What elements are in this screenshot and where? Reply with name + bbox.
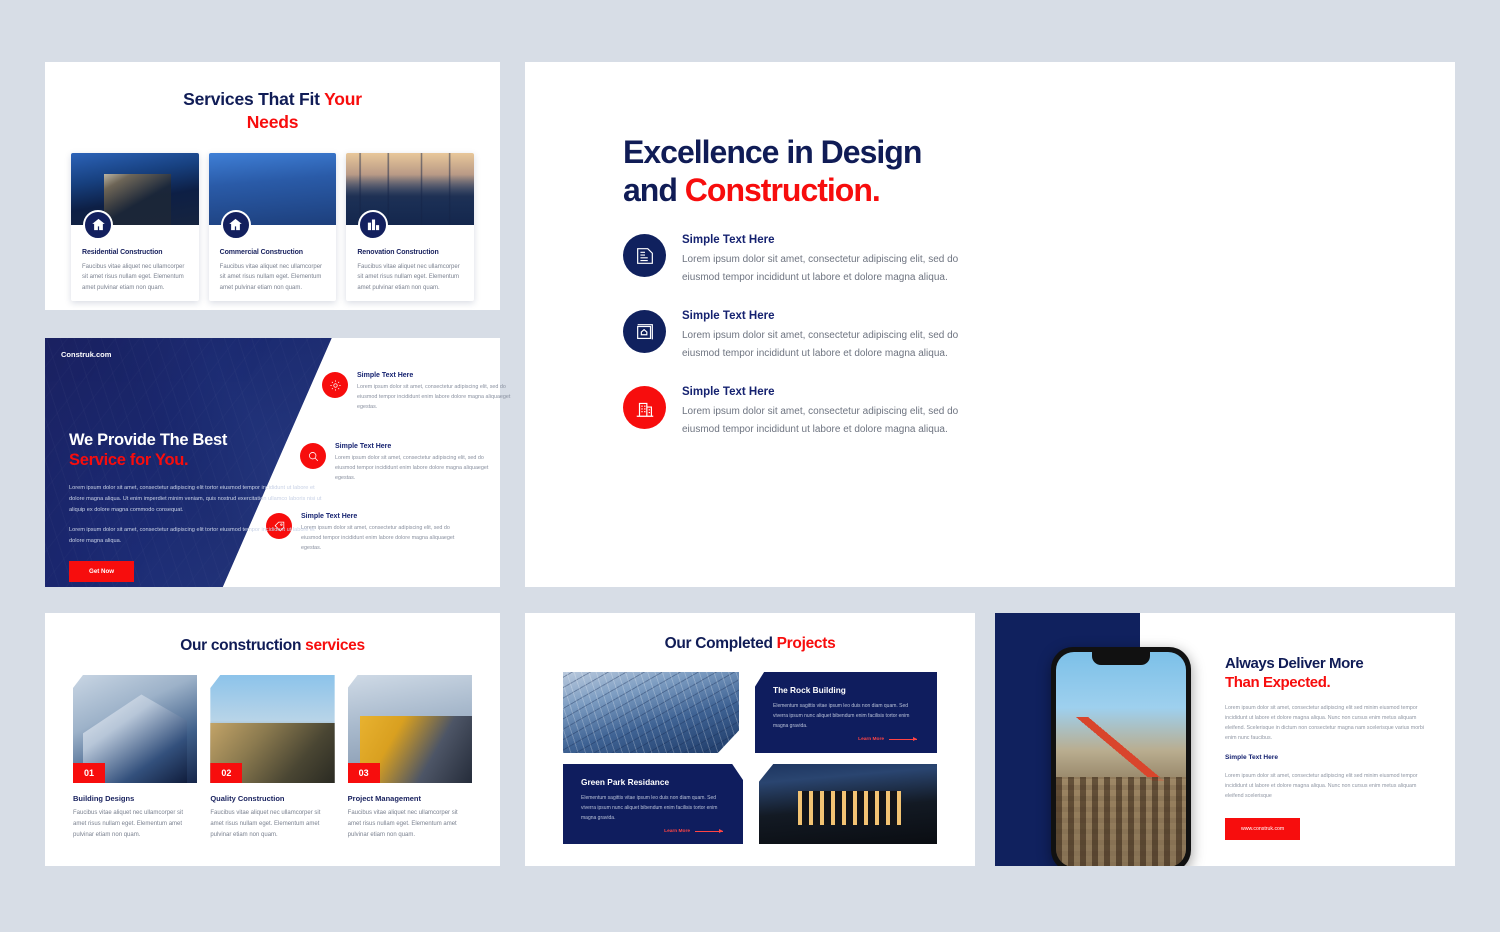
service-card[interactable]: Commercial Construction Faucibus vitae a… — [209, 153, 337, 302]
construction-card-number: 02 — [210, 763, 242, 783]
headline-part-2: Your — [324, 89, 362, 109]
main-feature-title: Simple Text Here — [682, 234, 993, 246]
always-content: Always Deliver More Than Expected. Lorem… — [1225, 655, 1425, 840]
projects-grid: The Rock Building Elementum sagittis vit… — [563, 672, 937, 844]
always-paragraph-2: Lorem ipsum dolor sit amet, consectetur … — [1225, 771, 1425, 802]
construction-card-title: Building Designs — [73, 794, 197, 803]
construction-headline-red: services — [305, 637, 365, 654]
blueprint-icon — [623, 234, 666, 277]
project-card-body: The Rock Building Elementum sagittis vit… — [755, 672, 937, 742]
main-feature-title: Simple Text Here — [682, 386, 993, 398]
provide-paragraph-2: Lorem ipsum dolor sit amet, consectetur … — [69, 525, 324, 547]
provide-feature-desc: Lorem ipsum dolor sit amet, consectetur … — [301, 523, 466, 553]
main-feature-item[interactable]: Simple Text Here Lorem ipsum dolor sit a… — [623, 310, 993, 362]
main-heading-line2-red: Construction. — [685, 172, 880, 208]
main-feature-item[interactable]: Simple Text Here Lorem ipsum dolor sit a… — [623, 234, 993, 286]
service-card-desc: Faucibus vitae aliquet nec ullamcorper s… — [82, 262, 188, 294]
construction-card-photo: 01 — [73, 675, 197, 783]
provide-feature-text: Simple Text Here Lorem ipsum dolor sit a… — [301, 513, 466, 553]
construction-card-photo: 03 — [348, 675, 472, 783]
project-photo-house — [759, 764, 937, 844]
service-card-title: Residential Construction — [82, 249, 188, 256]
always-subtitle: Simple Text Here — [1225, 754, 1425, 761]
construction-card-desc: Faucibus vitae aliquet nec ullamcorper s… — [348, 808, 472, 840]
project-card-desc: Elementum sagittis vitae ipsum leo duis … — [581, 794, 727, 823]
always-heading: Always Deliver More Than Expected. — [1225, 655, 1425, 693]
construction-card-number: 01 — [73, 763, 105, 783]
provide-feature-desc: Lorem ipsum dolor sit amet, consectetur … — [335, 453, 500, 483]
arrow-right-icon — [695, 831, 723, 832]
provide-feature-item[interactable]: Simple Text Here Lorem ipsum dolor sit a… — [300, 443, 500, 483]
main-feature-desc: Lorem ipsum dolor sit amet, consectetur … — [682, 327, 993, 362]
construction-card[interactable]: 01 Building Designs Faucibus vitae aliqu… — [73, 675, 197, 840]
buildings-icon — [358, 210, 388, 240]
provide-feature-item[interactable]: Simple Text Here Lorem ipsum dolor sit a… — [322, 372, 522, 412]
always-heading-red: Than Expected. — [1225, 674, 1330, 691]
slide-provide-copy: We Provide The Best Service for You. Lor… — [69, 430, 324, 582]
project-card-rock-building[interactable]: The Rock Building Elementum sagittis vit… — [755, 672, 937, 753]
headline-part-3: Needs — [247, 112, 299, 132]
main-feature-title: Simple Text Here — [682, 310, 993, 322]
project-photo-tower — [563, 672, 739, 753]
main-feature-item[interactable]: Simple Text Here Lorem ipsum dolor sit a… — [623, 386, 993, 438]
service-card-photo — [209, 153, 337, 225]
provide-feature-text: Simple Text Here Lorem ipsum dolor sit a… — [335, 443, 500, 483]
construction-headline-dark: Our construction — [180, 637, 305, 654]
building-icon — [623, 386, 666, 429]
phone-mockup — [1051, 647, 1191, 866]
always-heading-dark: Always Deliver More — [1225, 655, 1363, 672]
project-card-title: The Rock Building — [773, 685, 921, 695]
home-icon — [83, 210, 113, 240]
learn-more-link[interactable]: Learn More — [581, 829, 727, 834]
service-card[interactable]: Renovation Construction Faucibus vitae a… — [346, 153, 474, 302]
slide-services-that-fit: Services That Fit Your Needs Residential… — [45, 62, 500, 310]
slide-always-deliver-more: Always Deliver More Than Expected. Lorem… — [995, 613, 1455, 866]
slide-services-headline: Services That Fit Your Needs — [45, 88, 500, 135]
construction-card-row: 01 Building Designs Faucibus vitae aliqu… — [45, 675, 500, 840]
service-card-title: Renovation Construction — [357, 249, 463, 256]
provide-heading-white: We Provide The Best — [69, 430, 324, 450]
get-now-button[interactable]: Get Now — [69, 561, 134, 582]
floorplan-icon — [623, 310, 666, 353]
construction-card[interactable]: 03 Project Management Faucibus vitae ali… — [348, 675, 472, 840]
projects-headline: Our Completed Projects — [525, 635, 975, 653]
slide-our-construction-services: Our construction services 01 Building De… — [45, 613, 500, 866]
learn-more-link[interactable]: Learn More — [773, 737, 921, 742]
service-card-photo — [71, 153, 199, 225]
service-card-desc: Faucibus vitae aliquet nec ullamcorper s… — [220, 262, 326, 294]
provide-heading-red: Service for You. — [69, 450, 324, 470]
slide-our-completed-projects: Our Completed Projects The Rock Building… — [525, 613, 975, 866]
main-feature-text: Simple Text Here Lorem ipsum dolor sit a… — [682, 386, 993, 438]
main-feature-list: Simple Text Here Lorem ipsum dolor sit a… — [623, 234, 993, 462]
phone-notch — [1092, 652, 1150, 665]
construction-card-photo: 02 — [210, 675, 334, 783]
service-card-desc: Faucibus vitae aliquet nec ullamcorper s… — [357, 262, 463, 294]
main-heading-line1: Excellence in Design — [623, 134, 921, 170]
projects-headline-dark: Our Completed — [665, 635, 777, 652]
always-paragraph-1: Lorem ipsum dolor sit amet, consectetur … — [1225, 703, 1425, 744]
provide-feature-title: Simple Text Here — [357, 372, 522, 379]
construction-card-desc: Faucibus vitae aliquet nec ullamcorper s… — [73, 808, 197, 840]
main-feature-desc: Lorem ipsum dolor sit amet, consectetur … — [682, 403, 993, 438]
construction-card-title: Quality Construction — [210, 794, 334, 803]
service-card-photo — [346, 153, 474, 225]
arrow-right-icon — [889, 739, 917, 740]
project-card-green-park[interactable]: Green Park Residance Elementum sagittis … — [563, 764, 743, 844]
service-card[interactable]: Residential Construction Faucibus vitae … — [71, 153, 199, 302]
phone-screen-crane-photo — [1056, 652, 1186, 866]
construction-card[interactable]: 02 Quality Construction Faucibus vitae a… — [210, 675, 334, 840]
house-icon — [221, 210, 251, 240]
provide-feature-title: Simple Text Here — [301, 513, 466, 520]
headline-part-1: Services That Fit — [183, 89, 324, 109]
construction-headline: Our construction services — [45, 637, 500, 655]
provide-feature-title: Simple Text Here — [335, 443, 500, 450]
service-card-title: Commercial Construction — [220, 249, 326, 256]
website-button[interactable]: www.construk.com — [1225, 818, 1300, 840]
slide-excellence-in-design: Excellence in Design and Construction. S… — [525, 62, 1455, 587]
provide-feature-text: Simple Text Here Lorem ipsum dolor sit a… — [357, 372, 522, 412]
construction-card-title: Project Management — [348, 794, 472, 803]
main-feature-text: Simple Text Here Lorem ipsum dolor sit a… — [682, 310, 993, 362]
project-card-title: Green Park Residance — [581, 777, 727, 787]
provide-feature-desc: Lorem ipsum dolor sit amet, consectetur … — [357, 382, 522, 412]
project-card-desc: Elementum sagittis vitae ipsum leo duis … — [773, 702, 921, 731]
learn-more-label: Learn More — [664, 829, 690, 834]
construction-card-number: 03 — [348, 763, 380, 783]
gear-icon — [322, 372, 348, 398]
brand-logo: Construk.com — [61, 350, 111, 359]
presentation-mockup-canvas: Services That Fit Your Needs Residential… — [0, 0, 1500, 932]
provide-paragraph-1: Lorem ipsum dolor sit amet, consectetur … — [69, 483, 324, 516]
main-feature-desc: Lorem ipsum dolor sit amet, consectetur … — [682, 251, 993, 286]
service-card-row: Residential Construction Faucibus vitae … — [45, 153, 500, 302]
main-heading: Excellence in Design and Construction. — [623, 134, 1003, 210]
learn-more-label: Learn More — [858, 737, 884, 742]
projects-headline-red: Projects — [777, 635, 836, 652]
project-card-body: Green Park Residance Elementum sagittis … — [563, 764, 743, 834]
main-heading-line2-dark: and — [623, 172, 685, 208]
main-feature-text: Simple Text Here Lorem ipsum dolor sit a… — [682, 234, 993, 286]
construction-card-desc: Faucibus vitae aliquet nec ullamcorper s… — [210, 808, 334, 840]
